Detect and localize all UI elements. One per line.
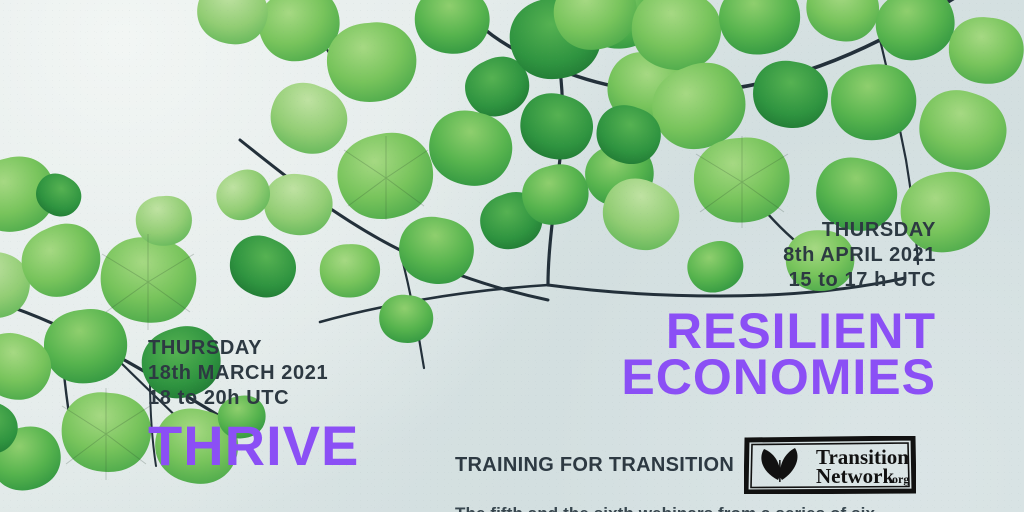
event-resilient-time: 15 to 17 h UTC [621,268,936,293]
logo-text-line-2: Network [816,464,894,488]
event-thrive-day: THURSDAY [148,336,359,361]
logo-leaf-icon [761,448,797,482]
logo-text-suffix: .org [889,472,909,486]
event-thrive-date: 18th MARCH 2021 [148,361,359,386]
event-block-resilient-economies: THURSDAY 8th APRIL 2021 15 to 17 h UTC R… [621,218,936,400]
footer-block: TRAINING FOR TRANSITION Transition Netwo… [455,436,975,512]
training-for-transition-label: TRAINING FOR TRANSITION [455,454,734,477]
event-thrive-time: 18 to 20h UTC [148,386,359,411]
event-resilient-day: THURSDAY [621,218,936,243]
event-block-thrive: THURSDAY 18th MARCH 2021 18 to 20h UTC T… [148,336,359,471]
event-thrive-title: THRIVE [148,420,359,472]
event-resilient-title: RESILIENT ECONOMIES [621,308,936,400]
event-thrive-datetime: THURSDAY 18th MARCH 2021 18 to 20h UTC [148,336,359,412]
footer-top-row: TRAINING FOR TRANSITION Transition Netwo… [455,436,975,494]
event-resilient-datetime: THURSDAY 8th APRIL 2021 15 to 17 h UTC [621,218,936,294]
event-resilient-title-line-1: RESILIENT [621,308,936,354]
transition-network-logo[interactable]: Transition Network .org [744,436,916,494]
series-note-text: The fifth and the sixth webinars from a … [455,504,975,512]
event-resilient-date: 8th APRIL 2021 [621,243,936,268]
event-resilient-title-line-2: ECONOMIES [621,354,936,400]
poster-canvas: THURSDAY 18th MARCH 2021 18 to 20h UTC T… [0,0,1024,512]
